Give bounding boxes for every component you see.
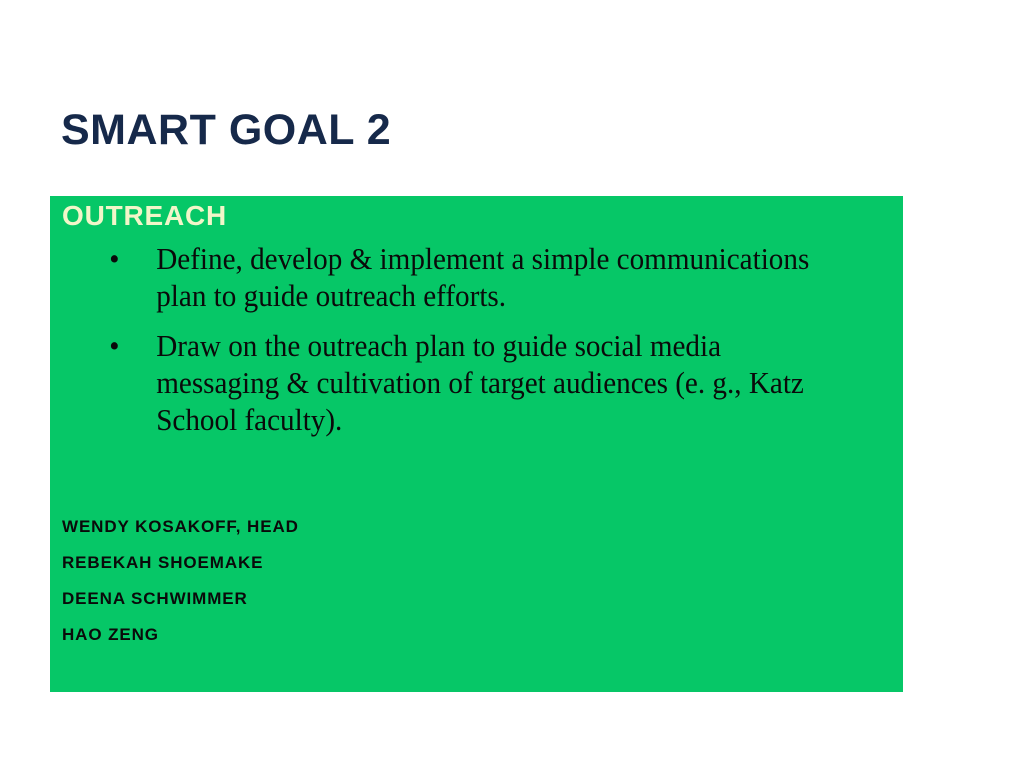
list-item: • Define, develop & implement a simple c… <box>50 240 852 314</box>
list-item: HAO ZENG <box>62 617 299 653</box>
bullet-marker-icon: • <box>109 240 119 277</box>
team-member-list: WENDY KOSAKOFF, HEAD REBEKAH SHOEMAKE DE… <box>62 509 299 653</box>
list-item: DEENA SCHWIMMER <box>62 581 299 617</box>
outreach-panel: OUTREACH • Define, develop & implement a… <box>50 196 903 692</box>
list-item: • Draw on the outreach plan to guide soc… <box>50 327 852 438</box>
list-item-text: Draw on the outreach plan to guide socia… <box>156 328 804 437</box>
panel-heading: OUTREACH <box>62 199 227 233</box>
slide-canvas: SMART GOAL 2 OUTREACH • Define, develop … <box>0 0 1024 768</box>
bullet-marker-icon: • <box>109 327 119 364</box>
list-item: REBEKAH SHOEMAKE <box>62 545 299 581</box>
page-title: SMART GOAL 2 <box>61 104 391 156</box>
list-item-text: Define, develop & implement a simple com… <box>156 241 809 313</box>
objectives-list: • Define, develop & implement a simple c… <box>50 240 903 451</box>
list-item: WENDY KOSAKOFF, HEAD <box>62 509 299 545</box>
